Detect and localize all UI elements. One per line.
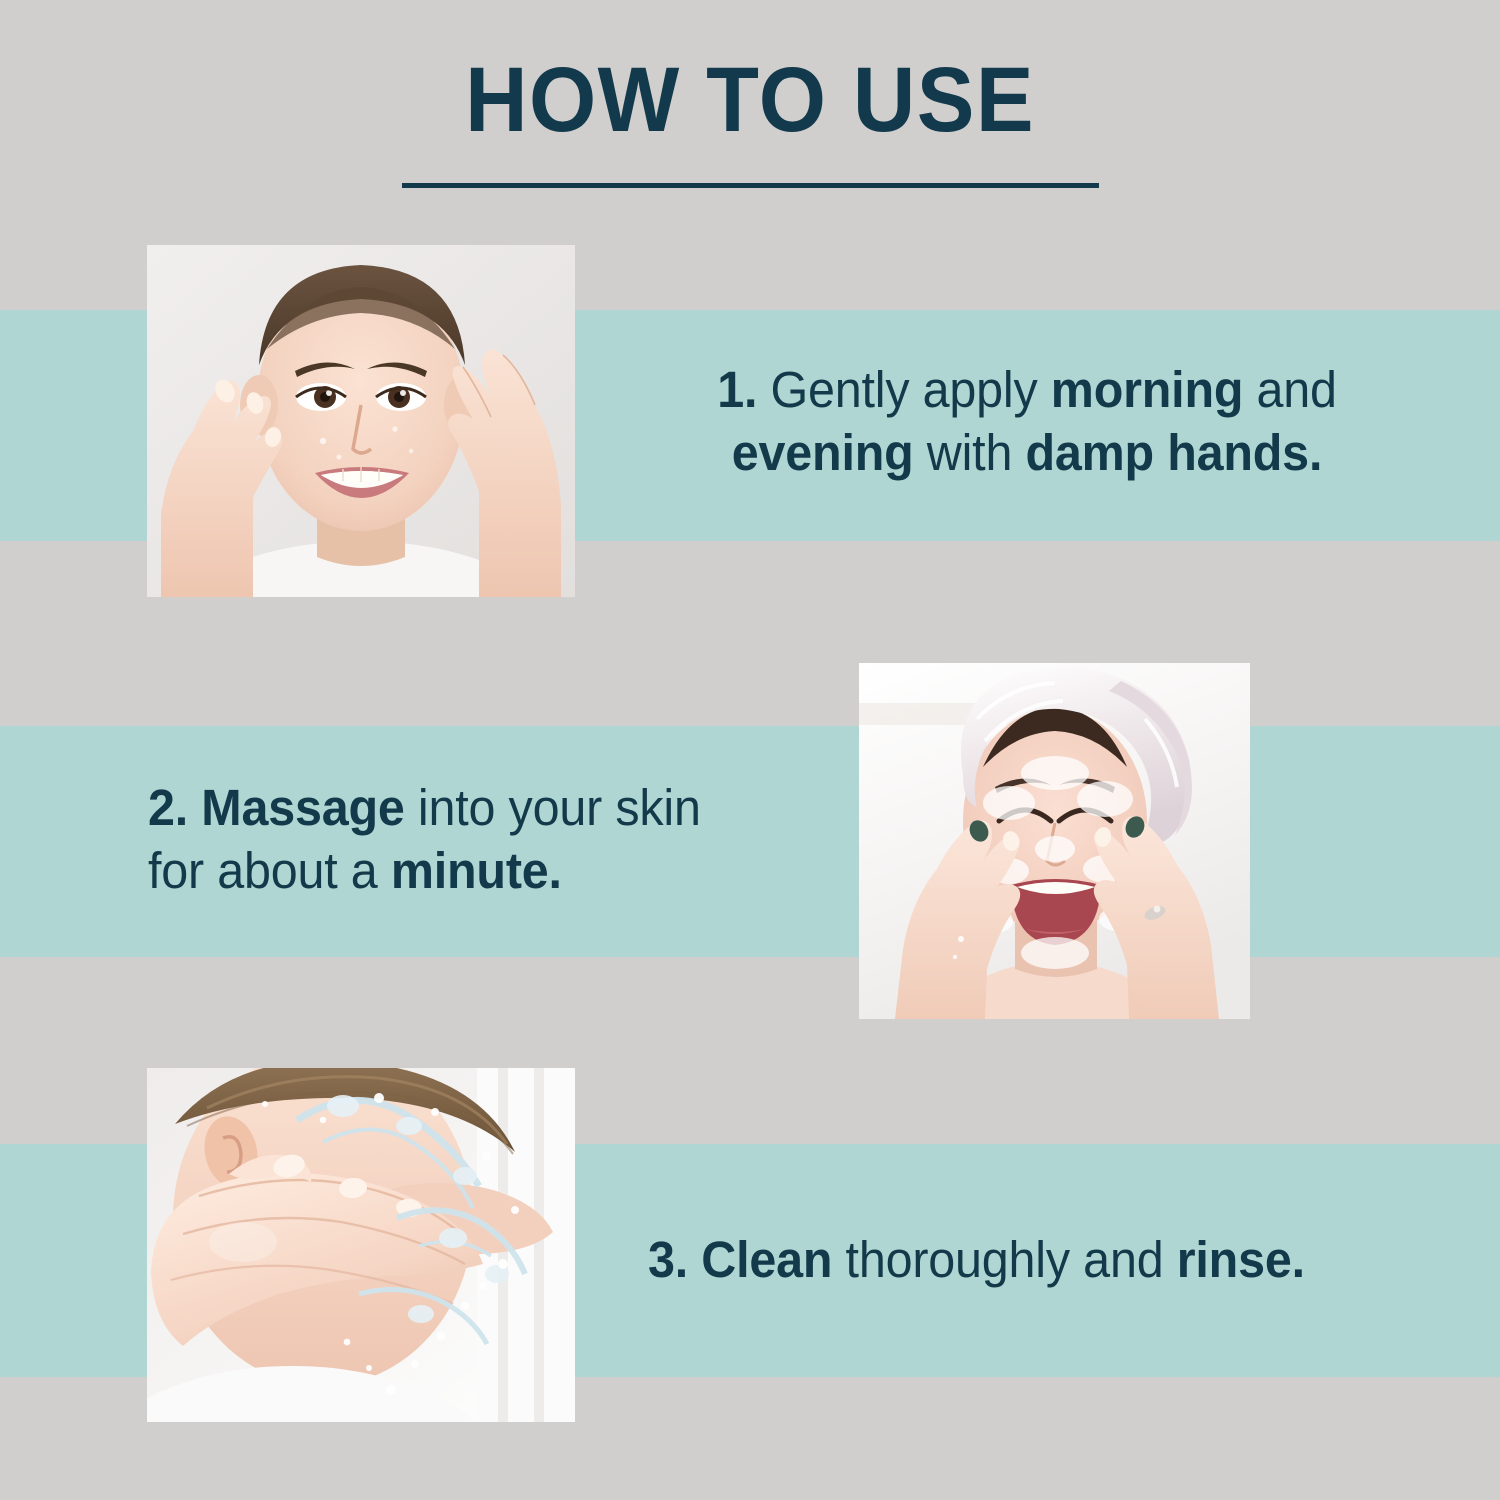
how-to-use-infographic: HOW TO USE <box>0 0 1500 1500</box>
step-3-photo <box>147 1068 575 1422</box>
page-title: HOW TO USE <box>45 52 1455 149</box>
step-1-text: 1. Gently apply morning andevening with … <box>633 358 1422 484</box>
step-2-line: 2. Massage into your skinfor about a min… <box>148 779 701 899</box>
step-2-photo <box>859 663 1250 1019</box>
step-3-text: 3. Clean thoroughly and rinse. <box>648 1228 1419 1291</box>
smiling-woman-clean-face-illustration <box>147 245 575 597</box>
step-1-line: 1. Gently apply morning andevening with … <box>717 361 1337 481</box>
woman-massaging-foam-cleanser-illustration <box>859 663 1250 1019</box>
step-3-line: 3. Clean thoroughly and rinse. <box>648 1231 1305 1288</box>
hands-splashing-water-rinse-illustration <box>147 1068 575 1422</box>
step-2-text: 2. Massage into your skinfor about a min… <box>148 776 851 902</box>
title-block: HOW TO USE <box>0 52 1500 149</box>
title-underline-rule <box>402 183 1099 188</box>
step-1-photo <box>147 245 575 597</box>
